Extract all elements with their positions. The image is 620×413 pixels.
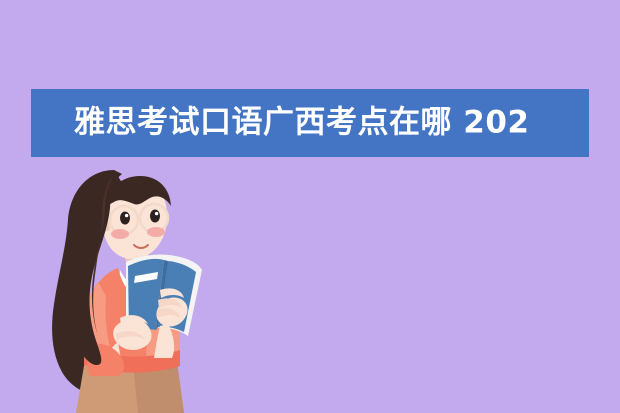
page-title: 雅思考试口语广西考点在哪 202 — [74, 108, 530, 139]
title-banner: 雅思考试口语广西考点在哪 202 — [31, 89, 589, 157]
woman-reading-book-icon — [28, 158, 228, 413]
page-canvas: 雅思考试口语广西考点在哪 202 — [0, 0, 620, 413]
illustration-woman-reading-book — [28, 158, 228, 413]
